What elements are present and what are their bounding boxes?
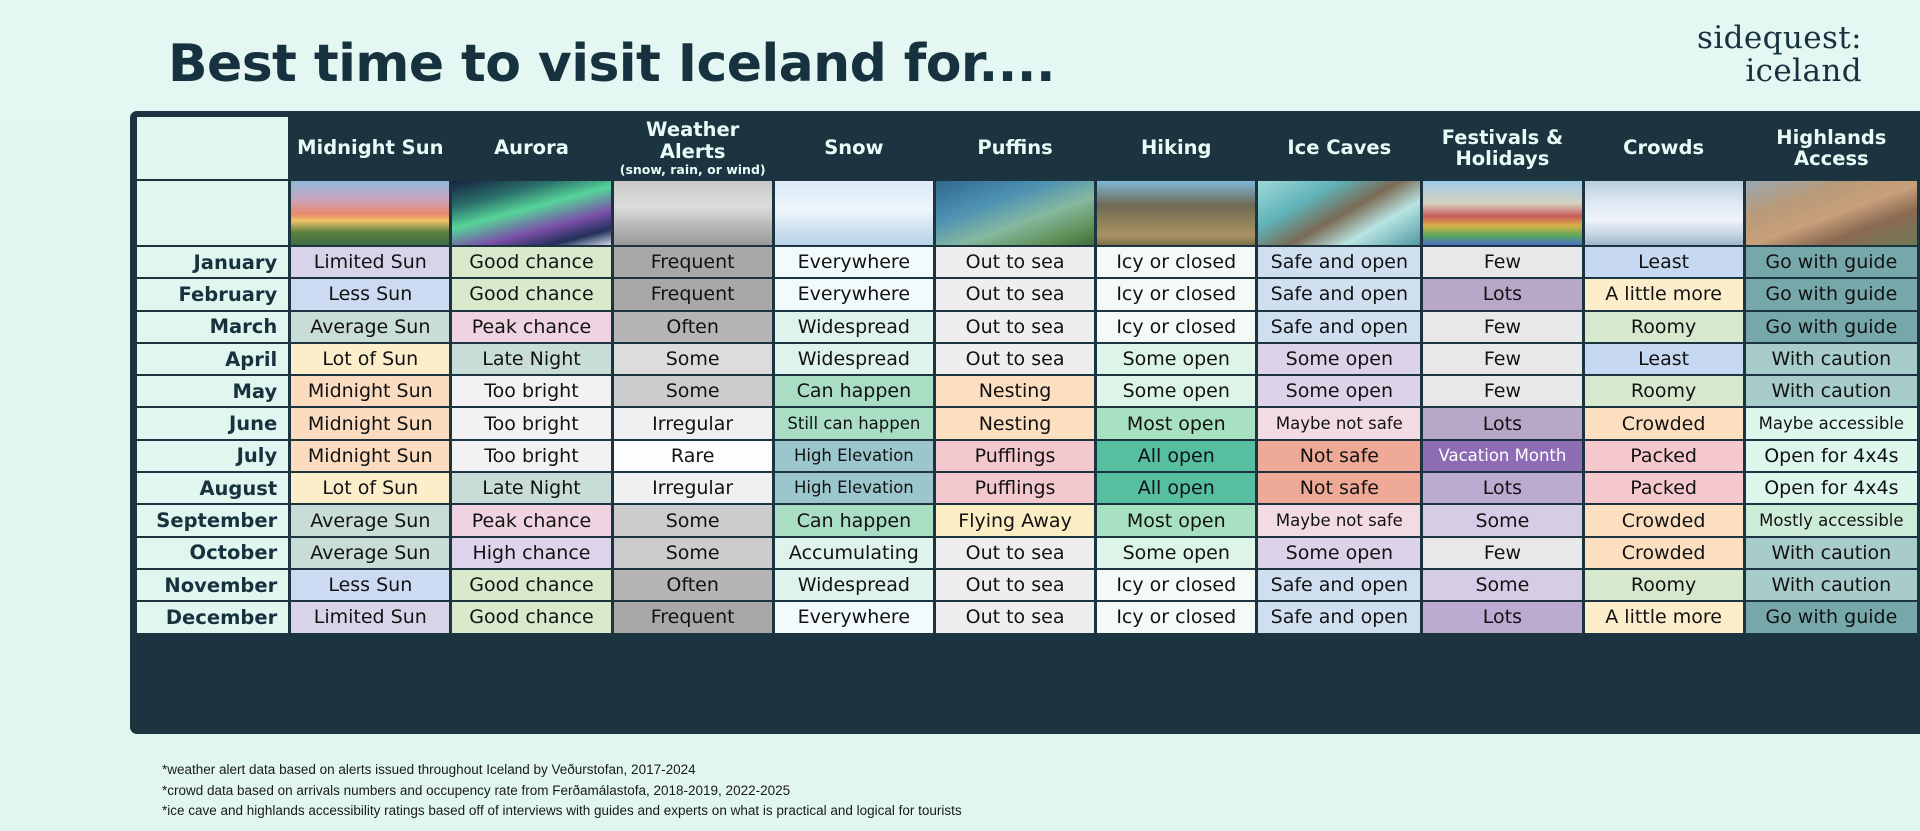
data-cell: Some [614,344,772,374]
data-cell: A little more [1585,279,1743,309]
table-row: AugustLot of SunLate NightIrregularHigh … [137,473,1917,503]
brand-logo: sidequest: iceland [1697,22,1862,88]
data-cell: Less Sun [291,570,449,600]
data-cell: Pufflings [936,441,1094,471]
data-cell: Less Sun [291,279,449,309]
data-cell: Accumulating [775,538,933,568]
data-cell: Lot of Sun [291,473,449,503]
column-header-midnight-sun: Midnight Sun [291,117,449,179]
data-cell: Most open [1097,408,1255,438]
data-cell: Too bright [452,376,610,406]
data-cell: Some [614,505,772,535]
puffin-cliff-photo [936,181,1094,245]
data-cell: Lots [1423,408,1581,438]
data-cell: Irregular [614,473,772,503]
data-cell: High Elevation [775,441,933,471]
data-cell: Everywhere [775,602,933,632]
data-cell: Late Night [452,473,610,503]
data-cell: Too bright [452,441,610,471]
footnote-1: *weather alert data based on alerts issu… [162,760,962,781]
data-cell: Often [614,312,772,342]
column-header-label: Hiking [1141,136,1212,159]
column-thumbnail-aurora [452,181,610,245]
sunrise-mountain-photo [291,181,449,245]
data-cell: Icy or closed [1097,279,1255,309]
column-header-label: Festivals & Holidays [1442,126,1563,170]
data-cell: Some open [1258,344,1420,374]
data-cell: Some open [1097,344,1255,374]
data-cell: Least [1585,247,1743,277]
table-row: DecemberLimited SunGood chanceFrequentEv… [137,602,1917,632]
data-cell: Widespread [775,312,933,342]
data-cell: Good chance [452,570,610,600]
column-thumbnail-midnight-sun [291,181,449,245]
data-cell: Lots [1423,602,1581,632]
column-thumbnail-crowds [1585,181,1743,245]
data-cell: Can happen [775,505,933,535]
comparison-table-container: Midnight SunAuroraWeather Alerts(snow, r… [130,111,1920,734]
row-label-march: March [137,312,288,342]
table-header-row: Midnight SunAuroraWeather Alerts(snow, r… [137,117,1917,179]
column-header-label: Ice Caves [1287,136,1391,159]
table-row: SeptemberAverage SunPeak chanceSomeCan h… [137,505,1917,535]
row-label-july: July [137,441,288,471]
data-cell: Irregular [614,408,772,438]
data-cell: Some [1423,570,1581,600]
data-cell: Go with guide [1746,312,1917,342]
column-header-highlands-access: Highlands Access [1746,117,1917,179]
data-cell: Midnight Sun [291,376,449,406]
data-cell: Crowded [1585,505,1743,535]
table-row: NovemberLess SunGood chanceOftenWidespre… [137,570,1917,600]
data-cell: Some open [1258,538,1420,568]
data-cell: Not safe [1258,473,1420,503]
data-cell: Mostly accessible [1746,505,1917,535]
data-cell: Least [1585,344,1743,374]
data-cell: Everywhere [775,279,933,309]
data-cell: Often [614,570,772,600]
data-cell: Not safe [1258,441,1420,471]
table-corner-thumbnail-cell [137,181,288,245]
hiker-mountain-photo [1097,181,1255,245]
data-cell: With caution [1746,570,1917,600]
column-header-label: Aurora [494,136,569,159]
data-cell: Maybe accessible [1746,408,1917,438]
data-cell: Average Sun [291,538,449,568]
data-cell: Some [614,538,772,568]
footnote-3: *ice cave and highlands accessibility ra… [162,801,962,822]
data-cell: Pufflings [936,473,1094,503]
road-warning-sign-photo [614,181,772,245]
column-header-label: Weather Alerts [646,118,739,162]
data-cell: With caution [1746,344,1917,374]
data-cell: Lots [1423,473,1581,503]
data-cell: Out to sea [936,247,1094,277]
data-cell: Out to sea [936,344,1094,374]
data-cell: Still can happen [775,408,933,438]
column-header-aurora: Aurora [452,117,610,179]
data-cell: Icy or closed [1097,602,1255,632]
column-thumbnail-festivals-holidays [1423,181,1581,245]
data-cell: Icy or closed [1097,247,1255,277]
row-label-september: September [137,505,288,535]
column-header-crowds: Crowds [1585,117,1743,179]
column-thumbnail-hiking [1097,181,1255,245]
data-cell: Too bright [452,408,610,438]
data-cell: A little more [1585,602,1743,632]
data-cell: Safe and open [1258,602,1420,632]
column-thumbnail-weather-alerts [614,181,772,245]
row-label-november: November [137,570,288,600]
data-cell: Safe and open [1258,279,1420,309]
data-cell: Frequent [614,279,772,309]
column-header-label: Midnight Sun [297,136,443,159]
data-cell: Lot of Sun [291,344,449,374]
data-cell: Peak chance [452,312,610,342]
row-label-june: June [137,408,288,438]
column-header-label: Crowds [1623,136,1704,159]
data-cell: Out to sea [936,570,1094,600]
column-header-sublabel: (snow, rain, or wind) [618,163,768,177]
data-cell: Widespread [775,570,933,600]
data-cell: Midnight Sun [291,441,449,471]
data-cell: Rare [614,441,772,471]
row-label-january: January [137,247,288,277]
column-header-snow: Snow [775,117,933,179]
data-cell: Average Sun [291,312,449,342]
row-label-february: February [137,279,288,309]
data-cell: Few [1423,247,1581,277]
data-cell: Few [1423,538,1581,568]
column-header-festivals-holidays: Festivals & Holidays [1423,117,1581,179]
table-row: JulyMidnight SunToo brightRareHigh Eleva… [137,441,1917,471]
data-cell: Out to sea [936,312,1094,342]
column-header-hiking: Hiking [1097,117,1255,179]
page-title: Best time to visit Iceland for.... [168,34,1055,94]
data-cell: Maybe not safe [1258,505,1420,535]
data-cell: Few [1423,344,1581,374]
data-cell: Peak chance [452,505,610,535]
data-cell: Vacation Month [1423,441,1581,471]
column-header-label: Highlands Access [1776,126,1886,170]
data-cell: Good chance [452,602,610,632]
row-label-october: October [137,538,288,568]
data-cell: All open [1097,441,1255,471]
column-header-weather-alerts: Weather Alerts(snow, rain, or wind) [614,117,772,179]
data-cell: Safe and open [1258,570,1420,600]
data-cell: Flying Away [936,505,1094,535]
data-cell: Everywhere [775,247,933,277]
data-cell: Safe and open [1258,247,1420,277]
data-cell: High Elevation [775,473,933,503]
column-thumbnail-puffins [936,181,1094,245]
data-cell: Roomy [1585,570,1743,600]
data-cell: Late Night [452,344,610,374]
column-header-ice-caves: Ice Caves [1258,117,1420,179]
geyser-tourists-photo [1585,181,1743,245]
data-cell: Crowded [1585,408,1743,438]
data-cell: Nesting [936,376,1094,406]
row-label-december: December [137,602,288,632]
column-header-label: Puffins [977,136,1052,159]
landmannalaugar-photo [1746,181,1917,245]
data-cell: Good chance [452,279,610,309]
data-cell: Roomy [1585,376,1743,406]
data-cell: All open [1097,473,1255,503]
footnotes: *weather alert data based on alerts issu… [162,760,962,822]
data-cell: Out to sea [936,538,1094,568]
table-corner-cell [137,117,288,179]
data-cell: Nesting [936,408,1094,438]
brand-logo-line1: sidequest: [1697,20,1862,56]
data-cell: Packed [1585,473,1743,503]
row-label-august: August [137,473,288,503]
data-cell: Good chance [452,247,610,277]
table-thumbnail-row [137,181,1917,245]
data-cell: Some open [1097,538,1255,568]
data-cell: Safe and open [1258,312,1420,342]
data-cell: Packed [1585,441,1743,471]
data-cell: Go with guide [1746,279,1917,309]
data-cell: Open for 4x4s [1746,473,1917,503]
data-cell: With caution [1746,538,1917,568]
column-thumbnail-snow [775,181,933,245]
data-cell: Open for 4x4s [1746,441,1917,471]
snow-covered-houses-photo [775,181,933,245]
data-cell: Out to sea [936,602,1094,632]
data-cell: Most open [1097,505,1255,535]
blue-ice-cave-photo [1258,181,1420,245]
data-cell: Few [1423,312,1581,342]
column-header-puffins: Puffins [936,117,1094,179]
data-cell: Some [1423,505,1581,535]
data-cell: Maybe not safe [1258,408,1420,438]
column-thumbnail-highlands-access [1746,181,1917,245]
data-cell: Out to sea [936,279,1094,309]
table-body: JanuaryLimited SunGood chanceFrequentEve… [137,247,1917,633]
data-cell: Go with guide [1746,247,1917,277]
data-cell: Lots [1423,279,1581,309]
data-cell: Go with guide [1746,602,1917,632]
table-row: AprilLot of SunLate NightSomeWidespreadO… [137,344,1917,374]
data-cell: Limited Sun [291,602,449,632]
pride-parade-flags-photo [1423,181,1581,245]
data-cell: Some open [1258,376,1420,406]
row-label-april: April [137,344,288,374]
data-cell: Average Sun [291,505,449,535]
table-row: JuneMidnight SunToo brightIrregularStill… [137,408,1917,438]
footnote-2: *crowd data based on arrivals numbers an… [162,781,962,802]
table-row: FebruaryLess SunGood chanceFrequentEvery… [137,279,1917,309]
table-row: JanuaryLimited SunGood chanceFrequentEve… [137,247,1917,277]
data-cell: Can happen [775,376,933,406]
table-row: MayMidnight SunToo brightSomeCan happenN… [137,376,1917,406]
data-cell: With caution [1746,376,1917,406]
best-time-table: Midnight SunAuroraWeather Alerts(snow, r… [134,115,1920,635]
data-cell: Some open [1097,376,1255,406]
data-cell: Roomy [1585,312,1743,342]
table-row: OctoberAverage SunHigh chanceSomeAccumul… [137,538,1917,568]
data-cell: Icy or closed [1097,312,1255,342]
data-cell: Frequent [614,247,772,277]
row-label-may: May [137,376,288,406]
data-cell: Limited Sun [291,247,449,277]
data-cell: High chance [452,538,610,568]
column-thumbnail-ice-caves [1258,181,1420,245]
data-cell: Icy or closed [1097,570,1255,600]
data-cell: Frequent [614,602,772,632]
data-cell: Crowded [1585,538,1743,568]
aurora-borealis-photo [452,181,610,245]
column-header-label: Snow [824,136,883,159]
data-cell: Some [614,376,772,406]
brand-logo-line2: iceland [1697,55,1862,88]
data-cell: Midnight Sun [291,408,449,438]
data-cell: Widespread [775,344,933,374]
data-cell: Few [1423,376,1581,406]
table-row: MarchAverage SunPeak chanceOftenWidespre… [137,312,1917,342]
